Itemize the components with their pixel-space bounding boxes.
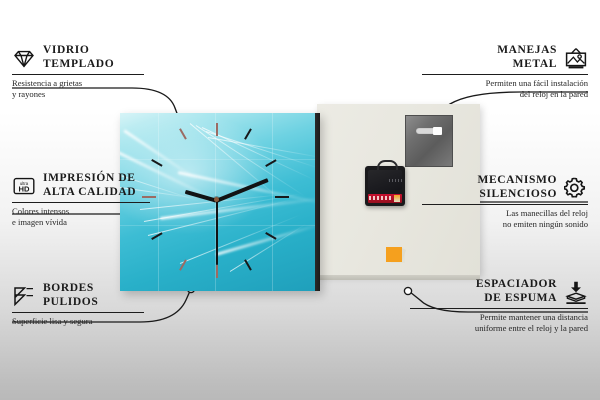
polished-edges-icon [12, 284, 36, 308]
clock-edge [315, 113, 320, 291]
picture-frame-hanger-icon [564, 46, 588, 70]
metal-hanger-plate [405, 115, 453, 167]
callout-title-line2: PULIDOS [43, 296, 98, 310]
callout-description: Permite mantener una distancia uniforme … [410, 312, 588, 333]
callout-title-line1: BORDES [43, 282, 98, 296]
callout-title-line2: DE ESPUMA [476, 292, 557, 306]
feature-callout-impresion-alta-calidad: ultra HD IMPRESIÓN DE ALTA CALIDAD Color… [12, 172, 150, 227]
callout-title-line1: IMPRESIÓN DE [43, 172, 136, 186]
callout-title-line2: ALTA CALIDAD [43, 186, 136, 200]
foam-spacer-pad [386, 247, 402, 262]
hanger-slot [416, 128, 442, 134]
callout-title-line2: TEMPLADO [43, 58, 114, 72]
callout-divider [410, 308, 588, 309]
clock-front-face [120, 113, 320, 291]
clock-mechanism-box [365, 166, 405, 206]
foam-spacer-arrow-icon [564, 280, 588, 304]
mechanism-label-mark [394, 195, 400, 202]
svg-text:HD: HD [19, 184, 30, 193]
callout-title-line1: MECANISMO [477, 174, 557, 188]
callout-description: Permiten una fácil instalación del reloj… [422, 78, 588, 99]
callout-description: Superficie lisa y segura [12, 316, 144, 327]
callout-divider [422, 74, 588, 75]
product-infographic: VIDRIO TEMPLADO Resistencia a grietas y … [0, 0, 600, 400]
callout-description: Colores intensos e imagen vívida [12, 206, 150, 227]
callout-description: Las manecillas del reloj no emiten ningú… [422, 208, 588, 229]
feature-callout-espaciador-de-espuma: ESPACIADOR DE ESPUMA Permite mantener un… [410, 278, 588, 333]
gear-icon [564, 176, 588, 200]
feature-callout-bordes-pulidos: BORDES PULIDOS Superficie lisa y segura [12, 282, 144, 327]
callout-title-line2: METAL [497, 58, 557, 72]
feather-print-pattern [120, 113, 320, 291]
callout-divider [12, 202, 150, 203]
callout-divider [12, 74, 144, 75]
callout-title-line1: ESPACIADOR [476, 278, 557, 292]
mechanism-detail [389, 179, 402, 182]
callout-title-line1: MANEJAS [497, 44, 557, 58]
ultra-hd-badge-icon: ultra HD [12, 174, 36, 198]
callout-divider [422, 204, 588, 205]
mechanism-label [368, 194, 402, 203]
feature-callout-vidrio-templado: VIDRIO TEMPLADO Resistencia a grietas y … [12, 44, 144, 99]
feature-callout-manejas-metal: MANEJAS METAL Permiten una fácil instala… [422, 44, 588, 99]
callout-title-line2: SILENCIOSO [477, 188, 557, 202]
callout-description: Resistencia a grietas y rayones [12, 78, 144, 99]
callout-divider [12, 312, 144, 313]
mechanism-label-text [369, 196, 393, 200]
feature-callout-mecanismo-silencioso: MECANISMO SILENCIOSO Las manecillas del … [422, 174, 588, 229]
callout-title-line1: VIDRIO [43, 44, 114, 58]
diamond-icon [12, 46, 36, 70]
